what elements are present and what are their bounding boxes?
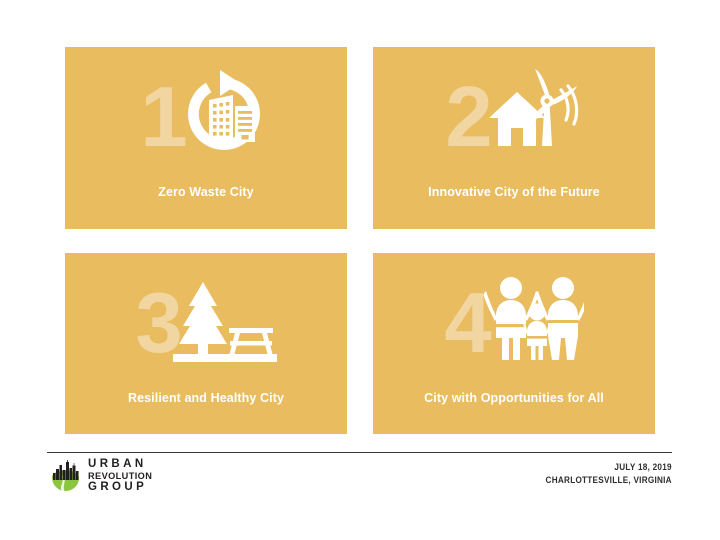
footer: URBAN REVOLUTION GROUP JULY 18, 2019 CHA… — [0, 456, 720, 506]
house-wind-turbine-icon — [483, 66, 583, 162]
icon-cluster: 4 — [444, 266, 583, 366]
icon-cluster: 2 — [445, 60, 582, 160]
logo-line-revolution: REVOLUTION — [88, 472, 152, 481]
footer-location: CHARLOTTESVILLE, VIRGINIA — [546, 474, 672, 487]
footer-divider — [47, 452, 672, 453]
card-label: Innovative City of the Future — [373, 185, 655, 199]
card-icon-area: 1 — [65, 47, 347, 173]
card-label: City with Opportunities for All — [373, 391, 655, 405]
pine-tree-picnic-table-icon — [173, 272, 277, 368]
card-resilient-and-healthy-city[interactable]: 3 Resilient and Healthy Ci — [65, 253, 347, 434]
footer-meta: JULY 18, 2019 CHARLOTTESVILLE, VIRGINIA — [546, 461, 672, 487]
card-innovative-city-of-the-future[interactable]: 2 — [373, 47, 655, 229]
family-group-icon — [480, 272, 584, 368]
card-grid: 1 — [65, 47, 655, 434]
brand-logo[interactable]: URBAN REVOLUTION GROUP — [49, 459, 151, 493]
icon-cluster: 3 — [135, 266, 276, 366]
card-zero-waste-city[interactable]: 1 — [65, 47, 347, 229]
logo-wordmark: URBAN REVOLUTION GROUP — [88, 459, 151, 493]
recycling-buildings-icon — [176, 66, 272, 162]
card-icon-area: 3 — [65, 253, 347, 379]
logo-line-urban: URBAN — [88, 459, 151, 471]
logo-line-group: GROUP — [88, 482, 151, 494]
city-skyline-green-hill-icon — [49, 460, 82, 493]
card-label: Zero Waste City — [65, 185, 347, 199]
card-city-with-opportunities-for-all[interactable]: 4 — [373, 253, 655, 434]
icon-cluster: 1 — [140, 60, 271, 160]
card-icon-area: 2 — [373, 47, 655, 173]
footer-date: JULY 18, 2019 — [546, 461, 672, 474]
card-icon-area: 4 — [373, 253, 655, 379]
slide-canvas: 1 — [0, 0, 720, 540]
card-label: Resilient and Healthy City — [65, 391, 347, 405]
